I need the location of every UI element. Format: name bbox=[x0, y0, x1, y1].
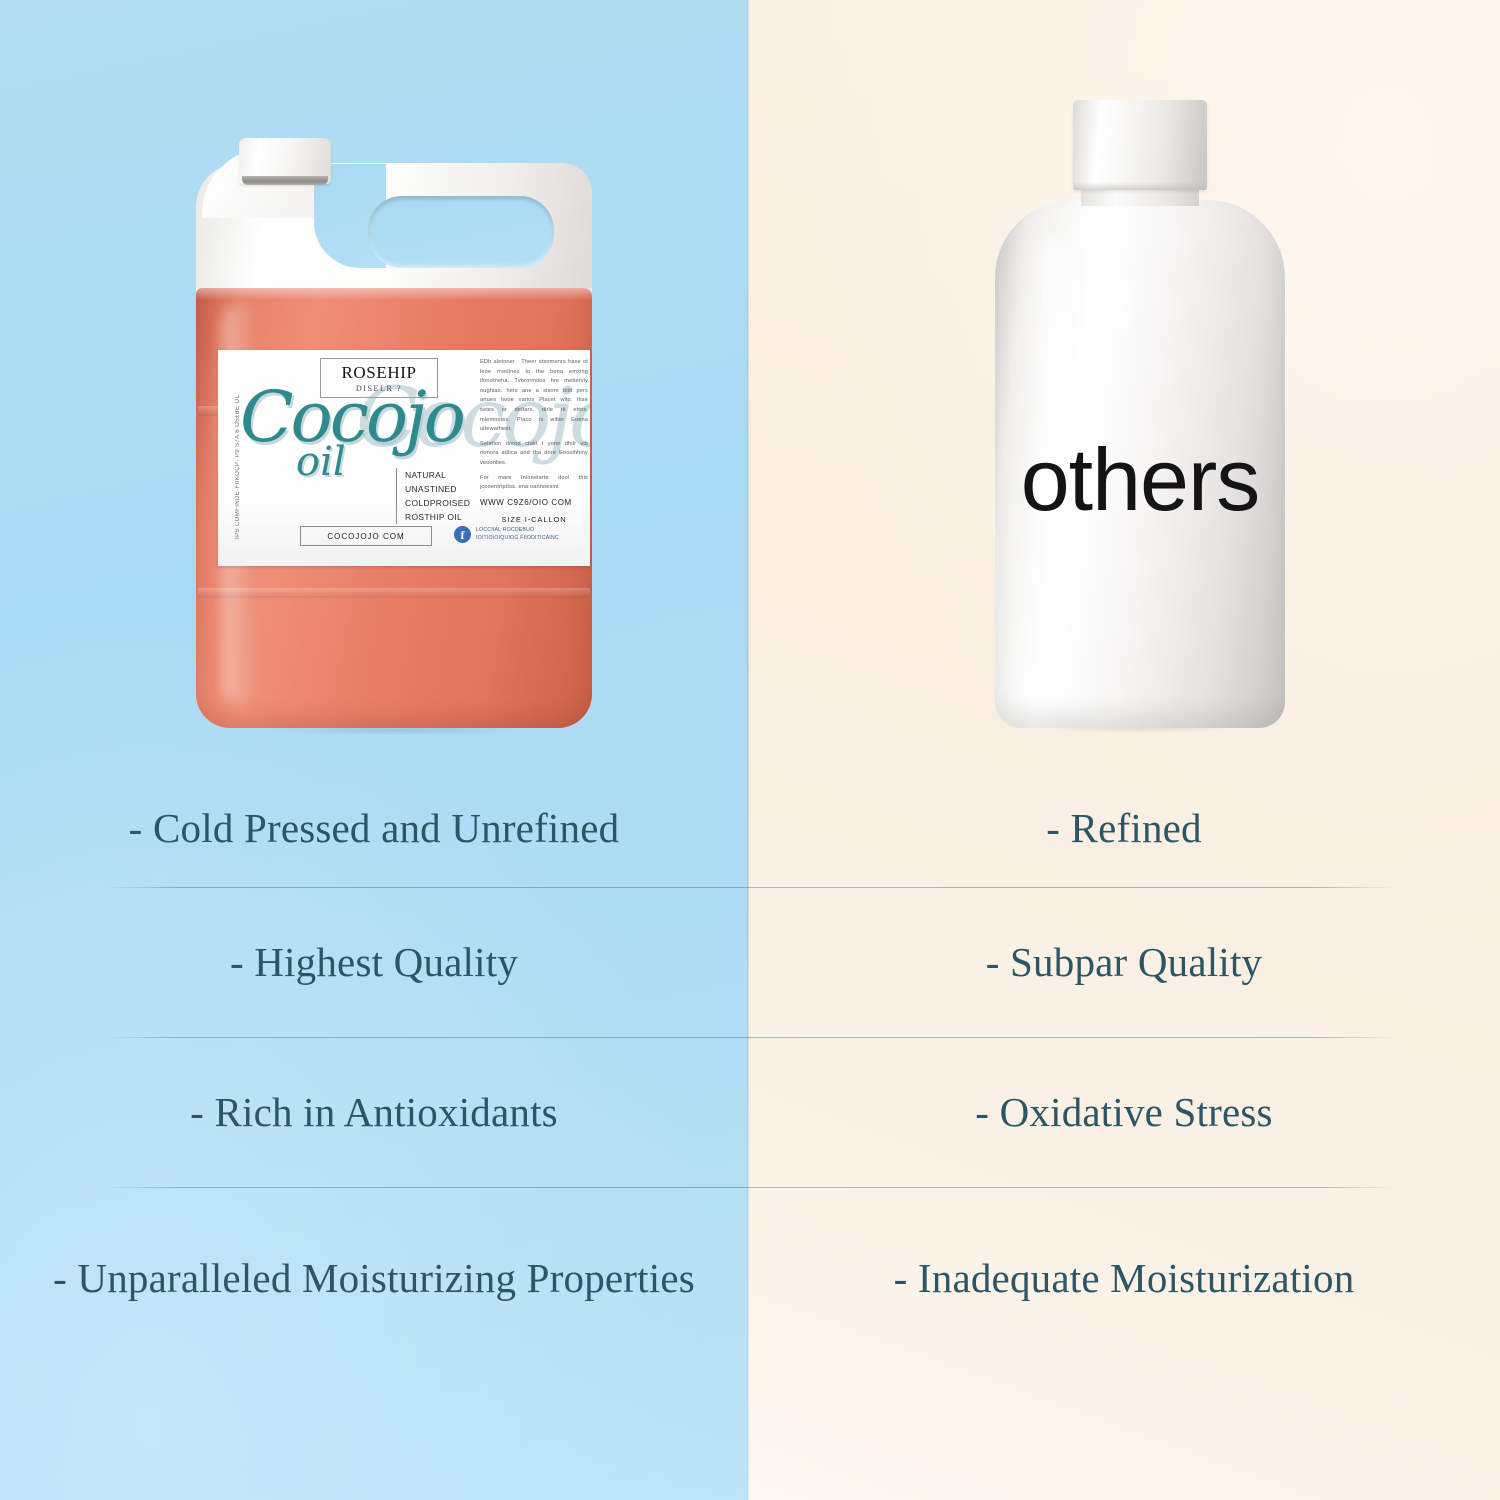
others-bottle: others bbox=[995, 100, 1285, 728]
product-images-area: IPS COMFINDE·FIIKOCP· P9 S7A 6 O5±BE OL … bbox=[0, 0, 1500, 770]
comparison-cell-right: - Refined bbox=[748, 803, 1500, 854]
label-fine-print-column: EDb aletoner · Theer stsomenrs hase ot l… bbox=[480, 358, 588, 524]
comparison-cell-left: - Cold Pressed and Unrefined bbox=[0, 803, 748, 854]
comparison-cell-right: - Subpar Quality bbox=[748, 937, 1500, 988]
comparison-rows: - Cold Pressed and Unrefined - Refined -… bbox=[0, 770, 1500, 1500]
comparison-row: - Unparalleled Moisturizing Properties -… bbox=[0, 1188, 1500, 1370]
label-social-row: f LOCCIIAL ROCDEBUO IOITIOIOIQUIOG FIIOD… bbox=[454, 526, 559, 543]
label-spec-list: NATURAL UNASTINED COLDPROISED ROSTHIP OI… bbox=[396, 468, 470, 524]
label-brand-name: ROSEHIP bbox=[341, 364, 416, 381]
label-url: WWW C9Z6/OIO COM bbox=[480, 498, 588, 507]
label-oil-script: oil bbox=[296, 442, 346, 482]
product-label: IPS COMFINDE·FIIKOCP· P9 S7A 6 O5±BE OL … bbox=[218, 350, 590, 566]
comparison-cell-left: - Rich in Antioxidants bbox=[0, 1087, 748, 1138]
comparison-cell-left: - Unparalleled Moisturizing Properties bbox=[0, 1253, 748, 1304]
label-website-box: COCOJOJO COM bbox=[300, 526, 432, 546]
comparison-row: - Highest Quality - Subpar Quality bbox=[0, 888, 1500, 1038]
rosehip-oil-jug: IPS COMFINDE·FIIKOCP· P9 S7A 6 O5±BE OL … bbox=[196, 118, 592, 728]
jug-handle-opening bbox=[368, 196, 554, 268]
comparison-cell-right: - Inadequate Moisturization bbox=[748, 1253, 1500, 1304]
label-fine-print-3: For mare Inlonelarte dool this jcooentri… bbox=[480, 474, 588, 493]
label-size: SIZE I-CALLON bbox=[480, 515, 588, 524]
bottle-highlight-spot bbox=[1087, 250, 1147, 360]
comparison-row: - Rich in Antioxidants - Oxidative Stres… bbox=[0, 1038, 1500, 1188]
label-fine-print-2: Seletion dnrod ctakt l yone dhilr vib ri… bbox=[480, 440, 588, 469]
label-brand-box: ROSEHIP DISELR ? bbox=[320, 358, 438, 398]
label-spec-item: NATURAL bbox=[405, 468, 470, 482]
comparison-row: - Cold Pressed and Unrefined - Refined bbox=[0, 770, 1500, 888]
label-spec-item: COLDPROISED bbox=[405, 496, 470, 510]
label-spec-item: UNASTINED bbox=[405, 482, 470, 496]
label-fine-print-1: EDb aletoner · Theer stsomenrs hase ot l… bbox=[480, 358, 588, 435]
label-social-line-2: IOITIOIOIQUIOG FIIODITICAINC bbox=[476, 535, 559, 543]
comparison-graphic: IPS COMFINDE·FIIKOCP· P9 S7A 6 O5±BE OL … bbox=[0, 0, 1500, 1500]
jug-rib bbox=[198, 588, 590, 598]
facebook-icon: f bbox=[454, 526, 471, 543]
label-main-area: Cocojo Cocojo oil ROSEHIP DISELR ? NATUR… bbox=[244, 350, 590, 566]
label-social-text: LOCCIIAL ROCDEBUO IOITIOIOIQUIOG FIIODIT… bbox=[476, 527, 559, 543]
bottle-cap bbox=[1073, 100, 1207, 190]
label-brand-subtitle: DISELR ? bbox=[356, 384, 402, 393]
comparison-cell-left: - Highest Quality bbox=[0, 937, 748, 988]
label-spec-item: ROSTHIP OIL bbox=[405, 510, 470, 524]
bottle-label-text: others bbox=[995, 436, 1285, 524]
label-social-line-1: LOCCIIAL ROCDEBUO bbox=[476, 527, 559, 535]
comparison-cell-right: - Oxidative Stress bbox=[748, 1087, 1500, 1138]
jug-cap-ring bbox=[242, 176, 328, 185]
